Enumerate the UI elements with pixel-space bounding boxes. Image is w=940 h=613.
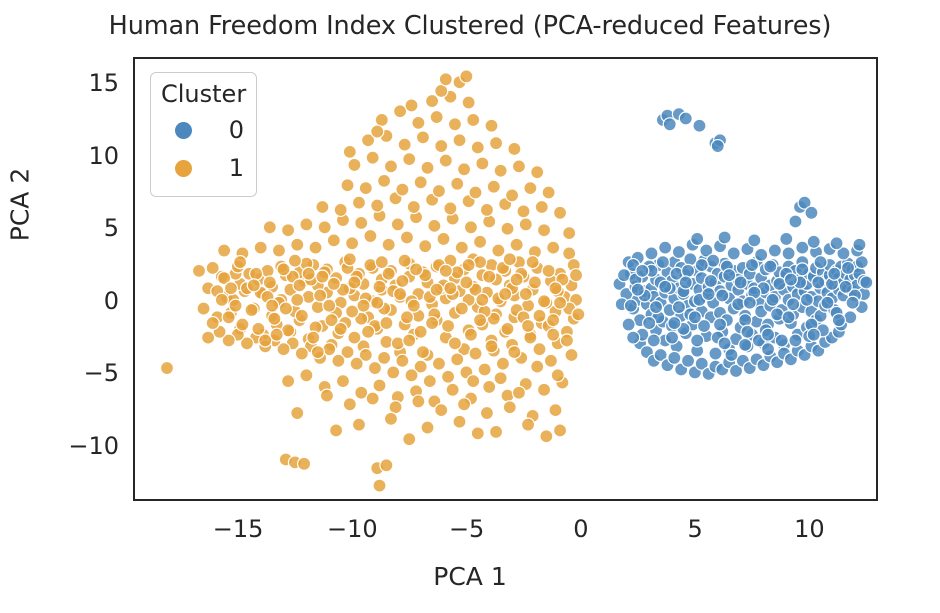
data-point [764,260,777,273]
data-point [695,259,708,272]
y-tick-label: −5 [0,359,119,387]
data-point [421,421,434,434]
data-point [522,418,535,431]
data-point [622,318,635,331]
data-point [812,276,825,289]
data-point [458,398,471,411]
data-point [506,189,519,202]
data-point [288,254,301,267]
data-point [359,182,372,195]
data-point [378,351,391,364]
data-point [295,309,308,322]
data-point [311,346,324,359]
data-point [727,247,740,260]
data-point [373,280,386,293]
data-point [565,349,578,362]
data-point [485,340,498,353]
legend-swatch-cell [161,160,205,177]
data-point [403,153,416,166]
data-point [483,215,496,228]
data-point [423,375,436,388]
data-point [679,276,692,289]
x-tick-label: 10 [794,515,825,543]
data-point [442,370,455,383]
data-point [496,357,509,370]
data-point [551,369,564,382]
data-point [499,288,512,301]
x-tick-label: 0 [573,515,588,543]
data-point [554,424,567,437]
data-point [394,288,407,301]
data-point [378,174,391,187]
data-point [270,328,283,341]
data-point [510,238,523,251]
data-point [396,275,409,288]
data-point [343,145,356,158]
data-point [387,366,400,379]
data-point [462,259,475,272]
data-point [291,293,304,306]
data-point [531,166,544,179]
data-point [512,160,525,173]
data-point [300,218,313,231]
data-point [846,296,859,309]
data-point [627,331,640,344]
data-point [316,270,329,283]
data-point [476,157,489,170]
data-point [380,317,393,330]
data-point [320,389,333,402]
data-point [716,289,729,302]
data-point [503,253,516,266]
data-point [366,151,379,164]
data-point [396,183,409,196]
data-point [702,288,715,301]
data-point [490,425,503,438]
data-point [853,238,866,251]
data-point [711,140,724,153]
data-point [734,276,747,289]
data-point [400,311,413,324]
data-point [860,276,873,289]
data-point [471,141,484,154]
data-point [380,459,393,472]
legend-swatch-cell [161,122,205,139]
data-point [453,415,466,428]
data-point [348,331,361,344]
data-point [430,111,443,124]
data-point [263,221,276,234]
data-point [547,241,560,254]
data-point [796,263,809,276]
data-point [350,357,363,370]
data-point [663,118,676,131]
data-point [693,119,706,132]
data-point [455,241,468,254]
data-point [355,216,368,229]
data-point [538,224,551,237]
y-tick-label: 15 [0,69,119,97]
data-point [371,125,384,138]
data-point [437,232,450,245]
data-point [277,263,290,276]
legend-item-label: 1 [205,155,246,181]
data-point [282,224,295,237]
data-point [549,282,562,295]
legend-item-label: 0 [205,117,246,143]
data-point [428,219,441,232]
data-point [245,304,258,317]
data-point [474,235,487,248]
data-point [403,433,416,446]
data-point [538,383,551,396]
data-point [647,334,660,347]
data-point [346,237,359,250]
data-point [746,259,759,272]
data-point [659,280,672,293]
data-point [656,256,669,269]
data-point [807,328,820,341]
data-point [282,375,295,388]
data-point [718,231,731,244]
data-point [368,362,381,375]
data-point [416,131,429,144]
data-point [316,201,329,214]
data-point [775,334,788,347]
data-point [412,116,425,129]
data-point [668,317,681,330]
data-point [357,299,370,312]
data-point [375,256,388,269]
legend-item-1[interactable]: 1 [161,149,246,187]
data-point [682,354,695,367]
data-point [531,360,544,373]
legend-marker-icon [175,160,192,177]
data-point [254,241,267,254]
legend-title: Cluster [161,79,246,109]
data-point [631,283,644,296]
data-point [215,293,228,306]
data-point [405,369,418,382]
data-point [332,354,345,367]
data-point [302,267,315,280]
scatter-plot-figure: Human Freedom Index Clustered (PCA-reduc… [0,0,940,613]
data-point [490,137,503,150]
data-point [352,196,365,209]
data-point [480,203,493,216]
data-point [469,186,482,199]
data-point [334,322,347,335]
data-point [236,318,249,331]
data-point [293,279,306,292]
data-point [398,254,411,267]
data-point [487,180,500,193]
data-point [645,247,658,260]
data-point [218,244,231,257]
data-point [519,288,532,301]
data-point [725,349,738,362]
data-point [723,269,736,282]
data-point [560,334,573,347]
data-point [421,161,434,174]
data-point [501,322,514,335]
legend-entries: 01 [161,111,246,187]
data-point [343,398,356,411]
series-cluster-0 [613,108,873,381]
data-point [805,206,818,219]
data-point [494,372,507,385]
data-point [538,295,551,308]
x-tick-label: −5 [449,515,484,543]
data-point [439,154,452,167]
data-point [780,232,793,245]
data-point [739,314,752,327]
data-point [442,319,455,332]
data-point [405,99,418,112]
data-point [517,205,530,218]
data-point [526,256,539,269]
data-point [263,276,276,289]
legend[interactable]: Cluster 01 [150,72,257,197]
data-point [570,269,583,282]
data-point [467,113,480,126]
data-point [334,203,347,216]
data-point [384,412,397,425]
data-point [704,275,717,288]
data-point [842,261,855,274]
data-point [839,280,852,293]
data-point [828,267,841,280]
data-point [512,386,525,399]
data-point [789,334,802,347]
data-point [666,331,679,344]
data-point [691,334,704,347]
data-point [789,215,802,228]
data-point [407,201,420,214]
legend-item-0[interactable]: 0 [161,111,246,149]
data-point [426,95,439,108]
data-point [298,457,311,470]
data-point [382,267,395,280]
data-point [547,314,560,327]
data-point [366,392,379,405]
data-point [451,353,464,366]
data-point [362,325,375,338]
data-point [426,317,439,330]
data-point [474,314,487,327]
data-point [485,119,498,132]
data-point [464,328,477,341]
data-point [524,331,537,344]
data-point [691,232,704,245]
data-point [508,142,521,155]
data-point [371,199,384,212]
data-point [432,185,445,198]
data-point [766,293,779,306]
data-point [544,354,557,367]
data-point [672,245,685,258]
data-point [492,244,505,257]
data-point [197,302,210,315]
data-point [206,261,219,274]
data-point [330,424,343,437]
data-point [341,179,354,192]
data-point [830,237,843,250]
data-point [336,375,349,388]
data-point [448,118,461,131]
data-point [460,276,473,289]
data-point [323,299,336,312]
data-point [348,158,361,171]
data-point [762,343,775,356]
data-point [718,337,731,350]
data-point [327,277,340,290]
data-point [414,325,427,338]
data-point [403,334,416,347]
data-point [448,337,461,350]
data-point [643,317,656,330]
data-point [300,369,313,382]
data-point [327,234,340,247]
data-point [624,299,637,312]
data-point [572,308,585,321]
x-axis-label: PCA 1 [0,562,940,591]
data-point [364,230,377,243]
x-tick-label: −15 [213,515,264,543]
data-point [224,282,237,295]
data-point [688,311,701,324]
data-point [743,296,756,309]
data-point [522,319,535,332]
data-point [547,328,560,341]
data-point [464,221,477,234]
data-point [252,322,265,335]
data-point [714,318,727,331]
data-point [510,273,523,286]
data-point [266,299,279,312]
data-point [247,279,260,292]
data-point [291,407,304,420]
data-point [444,282,457,295]
data-point [391,218,404,231]
data-point [533,343,546,356]
data-point [460,70,473,83]
data-point [542,186,555,199]
data-point [446,383,459,396]
data-point [483,380,496,393]
data-point [373,379,386,392]
data-point [709,347,722,360]
data-point [741,325,754,338]
data-point [755,248,768,261]
data-point [453,134,466,147]
data-point [371,296,384,309]
data-point [295,347,308,360]
data-point [501,222,514,235]
data-point [650,301,663,314]
data-point [373,479,386,492]
data-point [439,264,452,277]
data-point [430,283,443,296]
data-point [202,331,215,344]
data-point [533,309,546,322]
data-point [800,293,813,306]
data-point [384,160,397,173]
y-tick-label: −10 [0,432,119,460]
data-point [554,206,567,219]
data-point [682,264,695,277]
data-point [508,346,521,359]
data-point [807,235,820,248]
data-point [396,354,409,367]
data-point [268,312,281,325]
data-point [279,302,292,315]
data-point [524,182,537,195]
data-point [407,299,420,312]
data-point [307,331,320,344]
data-point [679,112,692,125]
data-point [435,140,448,153]
data-point [659,241,672,254]
data-point [469,347,482,360]
data-point [439,73,452,86]
data-point [768,244,781,257]
x-tick-label: 5 [688,515,703,543]
data-point [483,270,496,283]
data-point [318,221,331,234]
data-point [234,256,247,269]
data-point [762,328,775,341]
data-point [192,264,205,277]
data-point [352,418,365,431]
data-point [462,96,475,109]
data-point [222,311,235,324]
data-point [348,276,361,289]
data-point [382,238,395,251]
data-point [540,430,553,443]
data-point [784,273,797,286]
data-point [398,138,411,151]
data-point [782,311,795,324]
data-point [636,264,649,277]
data-point [416,346,429,359]
data-point [478,363,491,376]
data-point [229,299,242,312]
data-point [480,407,493,420]
data-point [400,231,413,244]
data-point [739,338,752,351]
x-tick-label: −10 [327,515,378,543]
data-point [432,357,445,370]
data-point [160,362,173,375]
data-point [444,202,457,215]
data-point [519,218,532,231]
data-point [458,163,471,176]
data-point [272,244,285,257]
page-title: Human Freedom Index Clustered (PCA-reduc… [0,11,940,41]
data-point [503,401,516,414]
data-point [668,351,681,364]
data-point [832,314,845,327]
data-point [467,375,480,388]
data-point [471,427,484,440]
data-point [455,302,468,315]
data-point [343,253,356,266]
data-point [410,263,423,276]
data-point [821,296,834,309]
data-point [782,247,795,260]
data-point [412,395,425,408]
